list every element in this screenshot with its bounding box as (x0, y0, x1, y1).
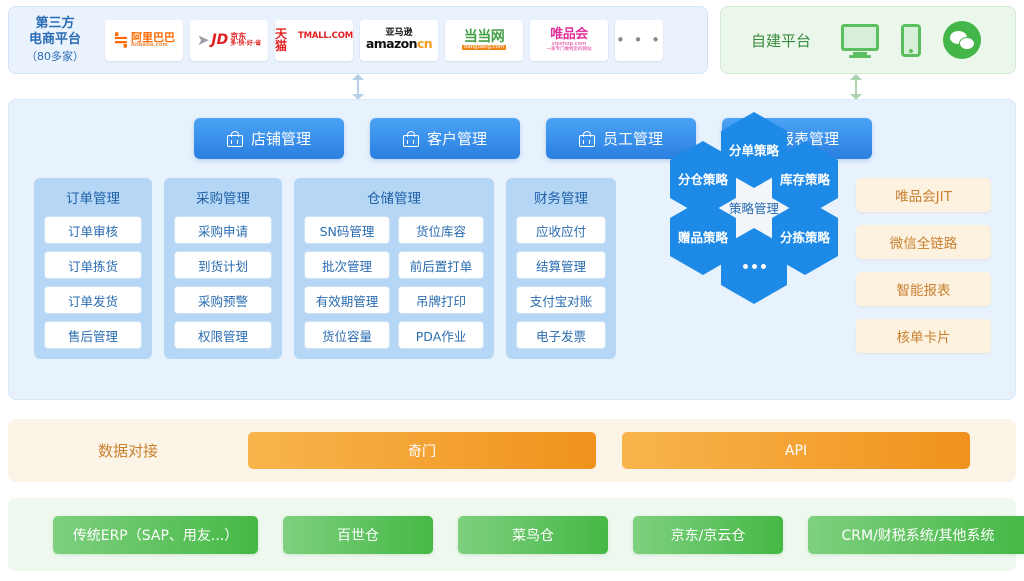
data-integration-title: 数据对接 (8, 440, 248, 461)
hex-more-strategy-dots (743, 264, 766, 269)
module-pre-post-printing[interactable]: 前后置打单 (398, 251, 484, 279)
module-permission-management[interactable]: 权限管理 (174, 321, 272, 349)
platform-logo-amazon[interactable]: 亚马逊 amazoncn (360, 20, 438, 61)
third-party-subtitle: （80多家） (9, 49, 101, 65)
module-receivable-payable[interactable]: 应收应付 (516, 216, 606, 244)
group-order-items: 订单审核 订单拣货 订单发货 售后管理 (44, 216, 142, 349)
system-crm-tax-other[interactable]: CRM/财税系统/其他系统 (808, 516, 1024, 554)
group-purchase-items: 采购申请 到货计划 采购预警 权限管理 (174, 216, 272, 349)
dangdang-logo-en: dangdang.com (462, 45, 506, 51)
group-warehouse-columns: SN码管理 批次管理 有效期管理 货位容量 货位库容 前后置打单 吊牌打印 PD… (304, 216, 484, 349)
shopping-bag-icon (579, 131, 595, 147)
group-finance-items: 应收应付 结算管理 支付宝对账 电子发票 (516, 216, 606, 349)
group-warehouse-management: 仓储管理 SN码管理 批次管理 有效期管理 货位容量 货位库容 前后置打单 吊牌… (294, 178, 494, 359)
vipshop-logo-cn: 唯品会 (550, 28, 588, 41)
hex-inventory-strategy-label: 库存策略 (780, 172, 830, 187)
amazon-logo: 亚马逊 amazoncn (366, 29, 432, 51)
tmall-logo-cn: 天猫 (275, 28, 296, 52)
module-pda-operation[interactable]: PDA作业 (398, 321, 484, 349)
architecture-diagram: 第三方 电商平台 （80多家） ≒ 阿里巴巴Alibaba.com ➤ JD 京… (0, 0, 1024, 581)
tmall-logo-en: TMALL.COM (298, 32, 353, 41)
hex-split-order-strategy-label: 分单策略 (729, 143, 779, 158)
wechat-bubble-small (959, 37, 975, 50)
button-store-management[interactable]: 店铺管理 (194, 118, 344, 159)
group-purchase-management: 采购管理 采购申请 到货计划 采购预警 权限管理 (164, 178, 282, 359)
vipshop-logo-tagline: 一家专门做特卖的网站 (547, 48, 592, 53)
system-traditional-erp[interactable]: 传统ERP（SAP、用友...） (53, 516, 258, 554)
jd-bird-icon: ➤ (197, 33, 210, 48)
management-button-row: 店铺管理 客户管理 员工管理 报表管理 (9, 100, 1015, 159)
platform-logo-list: ≒ 阿里巴巴Alibaba.com ➤ JD 京东多·快·好·省 天猫 TMAL… (101, 20, 663, 61)
connector-arrow-left (352, 74, 364, 100)
group-order-management: 订单管理 订单审核 订单拣货 订单发货 售后管理 (34, 178, 152, 359)
top-platforms-row: 第三方 电商平台 （80多家） ≒ 阿里巴巴Alibaba.com ➤ JD 京… (8, 6, 1016, 74)
module-alipay-reconciliation[interactable]: 支付宝对账 (516, 286, 606, 314)
group-purchase-title: 采购管理 (174, 187, 272, 207)
feature-column: 唯品会JIT 微信全链路 智能报表 核单卡片 (856, 178, 991, 353)
alibaba-logo: ≒ 阿里巴巴Alibaba.com (113, 31, 175, 50)
platform-more-button[interactable]: • • • (615, 20, 663, 61)
feature-smart-report[interactable]: 智能报表 (856, 272, 991, 306)
amazon-logo-suffix: cn (417, 38, 432, 51)
dangdang-logo-cn: 当当网 (464, 30, 505, 44)
feature-vipshop-jit[interactable]: 唯品会JIT (856, 178, 991, 212)
platform-logo-dangdang[interactable]: 当当网 dangdang.com (445, 20, 523, 61)
core-system-panel: 店铺管理 客户管理 员工管理 报表管理 订单管理 订单审核 订单拣货 (8, 99, 1016, 400)
platform-logo-alibaba[interactable]: ≒ 阿里巴巴Alibaba.com (105, 20, 183, 61)
dangdang-logo: 当当网 dangdang.com (462, 30, 506, 51)
connector-arrow-right (850, 74, 862, 100)
platform-logo-tmall[interactable]: 天猫 TMALL.COM (275, 20, 353, 61)
group-finance-title: 财务管理 (516, 187, 606, 207)
button-customer-management-label: 客户管理 (427, 128, 487, 149)
button-customer-management[interactable]: 客户管理 (370, 118, 520, 159)
group-warehouse-col1: SN码管理 批次管理 有效期管理 货位容量 (304, 216, 390, 349)
module-settlement[interactable]: 结算管理 (516, 251, 606, 279)
module-order-review[interactable]: 订单审核 (44, 216, 142, 244)
feature-wechat-full-chain[interactable]: 微信全链路 (856, 225, 991, 259)
module-location-stock[interactable]: 货位库容 (398, 216, 484, 244)
button-store-management-label: 店铺管理 (251, 128, 311, 149)
data-integration-api[interactable]: API (622, 432, 970, 469)
hex-sorting-strategy-label: 分拣策略 (780, 230, 830, 245)
module-purchase-request[interactable]: 采购申请 (174, 216, 272, 244)
strategy-hex-cluster: 策略管理 分单策略 库存策略 分拣策略 赠品策略 分仓策略 (654, 108, 854, 308)
module-batch-management[interactable]: 批次管理 (304, 251, 390, 279)
module-order-shipping[interactable]: 订单发货 (44, 286, 142, 314)
module-slot-capacity[interactable]: 货位容量 (304, 321, 390, 349)
external-systems-band: 传统ERP（SAP、用友...） 百世仓 菜鸟仓 京东/京云仓 CRM/财税系统… (8, 498, 1016, 571)
feature-verification-card[interactable]: 核单卡片 (856, 319, 991, 353)
platform-more-label: • • • (616, 31, 662, 49)
self-built-platform-panel: 自建平台 (720, 6, 1016, 74)
module-arrival-plan[interactable]: 到货计划 (174, 251, 272, 279)
third-party-platforms-panel: 第三方 电商平台 （80多家） ≒ 阿里巴巴Alibaba.com ➤ JD 京… (8, 6, 708, 74)
module-tag-printing[interactable]: 吊牌打印 (398, 286, 484, 314)
group-warehouse-col2: 货位库容 前后置打单 吊牌打印 PDA作业 (398, 216, 484, 349)
shopping-bag-icon (403, 131, 419, 147)
phone-icon (901, 24, 921, 57)
module-purchase-alert[interactable]: 采购预警 (174, 286, 272, 314)
system-jd-warehouse[interactable]: 京东/京云仓 (633, 516, 783, 554)
module-e-invoice[interactable]: 电子发票 (516, 321, 606, 349)
hex-gift-strategy-label: 赠品策略 (678, 230, 728, 245)
data-integration-qimen[interactable]: 奇门 (248, 432, 596, 469)
system-cainiao-warehouse[interactable]: 菜鸟仓 (458, 516, 608, 554)
self-built-title: 自建平台 (721, 30, 841, 51)
monitor-icon (841, 24, 879, 56)
self-built-icon-list (841, 21, 981, 59)
monitor-base (849, 55, 871, 58)
amazon-logo-en: amazon (366, 36, 417, 51)
monitor-screen (841, 24, 879, 51)
group-order-title: 订单管理 (44, 187, 142, 207)
group-warehouse-title: 仓储管理 (304, 187, 484, 207)
third-party-title-line2: 电商平台 (29, 32, 81, 47)
group-finance-management: 财务管理 应收应付 结算管理 支付宝对账 电子发票 (506, 178, 616, 359)
module-sn-management[interactable]: SN码管理 (304, 216, 390, 244)
jd-logo-mark: JD (211, 33, 228, 47)
alibaba-mark: ≒ (113, 31, 129, 50)
third-party-title: 第三方 电商平台 （80多家） (9, 16, 101, 65)
tmall-logo: 天猫 TMALL.COM (275, 28, 353, 52)
data-integration-band: 数据对接 奇门 API (8, 419, 1016, 482)
platform-logo-vipshop[interactable]: 唯品会 vipshop.com 一家专门做特卖的网站 (530, 20, 608, 61)
jd-logo-sub: 多·快·好·省 (230, 41, 261, 47)
vipshop-logo: 唯品会 vipshop.com 一家专门做特卖的网站 (547, 28, 592, 52)
module-group-row: 订单管理 订单审核 订单拣货 订单发货 售后管理 采购管理 采购申请 到货计划 … (34, 178, 616, 359)
wechat-icon (943, 21, 981, 59)
platform-logo-jd[interactable]: ➤ JD 京东多·快·好·省 (190, 20, 268, 61)
third-party-title-line1: 第三方 (35, 16, 74, 31)
module-order-picking[interactable]: 订单拣货 (44, 251, 142, 279)
system-best-warehouse[interactable]: 百世仓 (283, 516, 433, 554)
jd-logo: ➤ JD 京东多·快·好·省 (197, 33, 261, 48)
module-expiry-management[interactable]: 有效期管理 (304, 286, 390, 314)
hex-warehouse-split-strategy-label: 分仓策略 (678, 172, 728, 187)
shopping-bag-icon (227, 131, 243, 147)
hex-strategy-center-label: 策略管理 (729, 201, 779, 216)
module-aftersales[interactable]: 售后管理 (44, 321, 142, 349)
